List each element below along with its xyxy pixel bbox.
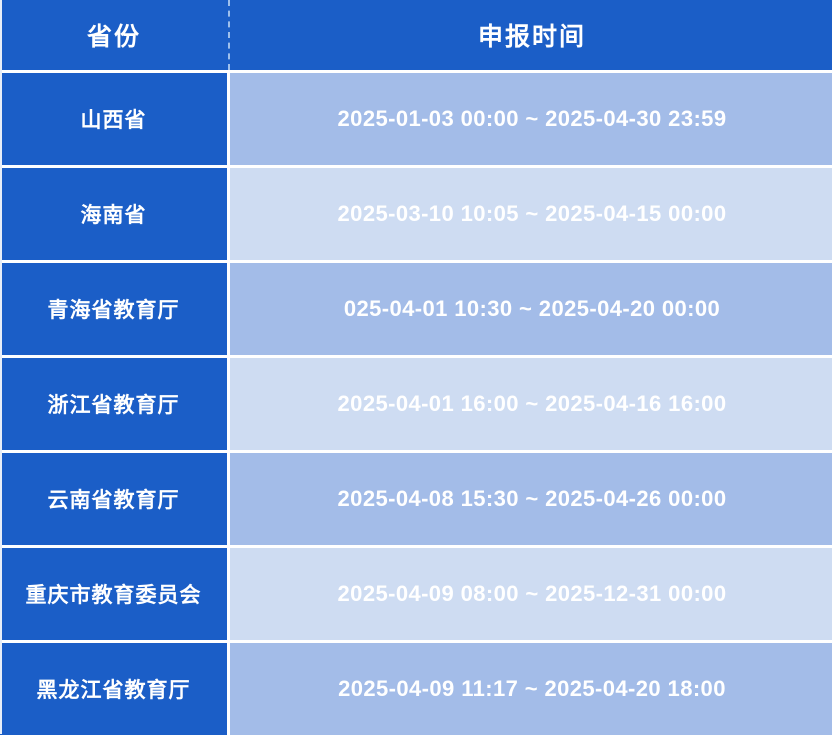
column-header-declaration-time: 申报时间 bbox=[230, 0, 832, 70]
page-wrap: 省份 申报时间 山西省 2025-01-03 00:00 ~ 2025-04-3… bbox=[0, 0, 832, 734]
cell-declaration-time: 2025-04-01 16:00 ~ 2025-04-16 16:00 bbox=[230, 355, 832, 450]
cell-province: 青海省教育厅 bbox=[0, 260, 230, 355]
table-row: 海南省 2025-03-10 10:05 ~ 2025-04-15 00:00 bbox=[0, 165, 832, 260]
cell-declaration-time: 2025-04-08 15:30 ~ 2025-04-26 00:00 bbox=[230, 450, 832, 545]
cell-province: 山西省 bbox=[0, 70, 230, 165]
declaration-schedule-table: 省份 申报时间 山西省 2025-01-03 00:00 ~ 2025-04-3… bbox=[0, 0, 832, 735]
cell-province: 黑龙江省教育厅 bbox=[0, 640, 230, 735]
table-row: 黑龙江省教育厅 2025-04-09 11:17 ~ 2025-04-20 18… bbox=[0, 640, 832, 735]
table-row: 重庆市教育委员会 2025-04-09 08:00 ~ 2025-12-31 0… bbox=[0, 545, 832, 640]
cell-province: 云南省教育厅 bbox=[0, 450, 230, 545]
table-body: 山西省 2025-01-03 00:00 ~ 2025-04-30 23:59 … bbox=[0, 70, 832, 735]
table-row: 山西省 2025-01-03 00:00 ~ 2025-04-30 23:59 bbox=[0, 70, 832, 165]
table-row: 青海省教育厅 025-04-01 10:30 ~ 2025-04-20 00:0… bbox=[0, 260, 832, 355]
cell-declaration-time: 2025-04-09 08:00 ~ 2025-12-31 00:00 bbox=[230, 545, 832, 640]
cell-province: 浙江省教育厅 bbox=[0, 355, 230, 450]
header-row: 省份 申报时间 bbox=[0, 0, 832, 70]
cell-province: 海南省 bbox=[0, 165, 230, 260]
table-head: 省份 申报时间 bbox=[0, 0, 832, 70]
column-header-province: 省份 bbox=[0, 0, 230, 70]
table-row: 云南省教育厅 2025-04-08 15:30 ~ 2025-04-26 00:… bbox=[0, 450, 832, 545]
cell-declaration-time: 2025-03-10 10:05 ~ 2025-04-15 00:00 bbox=[230, 165, 832, 260]
cell-declaration-time: 025-04-01 10:30 ~ 2025-04-20 00:00 bbox=[230, 260, 832, 355]
table-row: 浙江省教育厅 2025-04-01 16:00 ~ 2025-04-16 16:… bbox=[0, 355, 832, 450]
cell-province: 重庆市教育委员会 bbox=[0, 545, 230, 640]
cell-declaration-time: 2025-01-03 00:00 ~ 2025-04-30 23:59 bbox=[230, 70, 832, 165]
cell-declaration-time: 2025-04-09 11:17 ~ 2025-04-20 18:00 bbox=[230, 640, 832, 735]
